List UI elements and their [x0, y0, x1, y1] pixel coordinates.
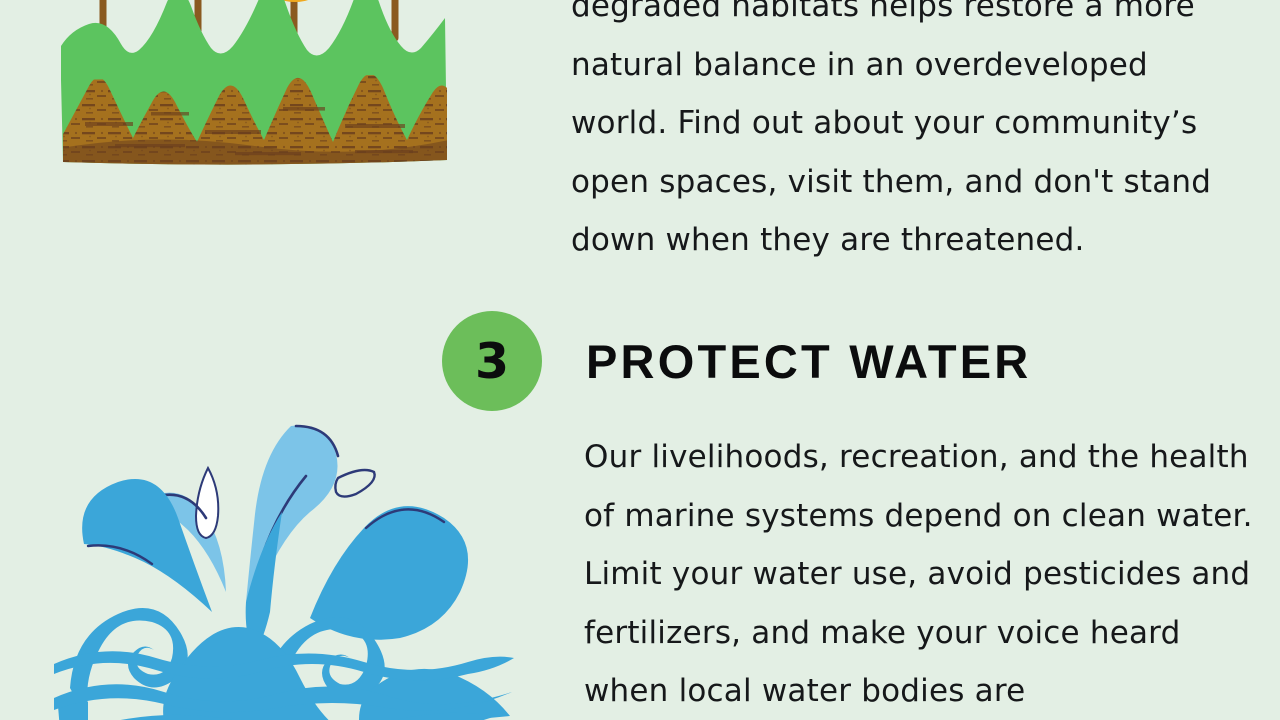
section-3-header: 3 PROTECT WATER [442, 310, 1262, 412]
section-number-label: 3 [475, 337, 509, 386]
current-section-body-text: Our livelihoods, recreation, and the hea… [584, 428, 1254, 720]
water-splash-waves-illustration [48, 406, 518, 720]
section-number-badge: 3 [442, 311, 542, 411]
infographic-page: degraded habitats helps restore a more n… [0, 0, 1280, 720]
section-title: PROTECT WATER [586, 334, 1031, 389]
forest-trees-soil-illustration [55, 0, 455, 212]
tree-canopy-group [63, 0, 435, 2]
previous-section-body-text: degraded habitats helps restore a more n… [571, 0, 1251, 270]
